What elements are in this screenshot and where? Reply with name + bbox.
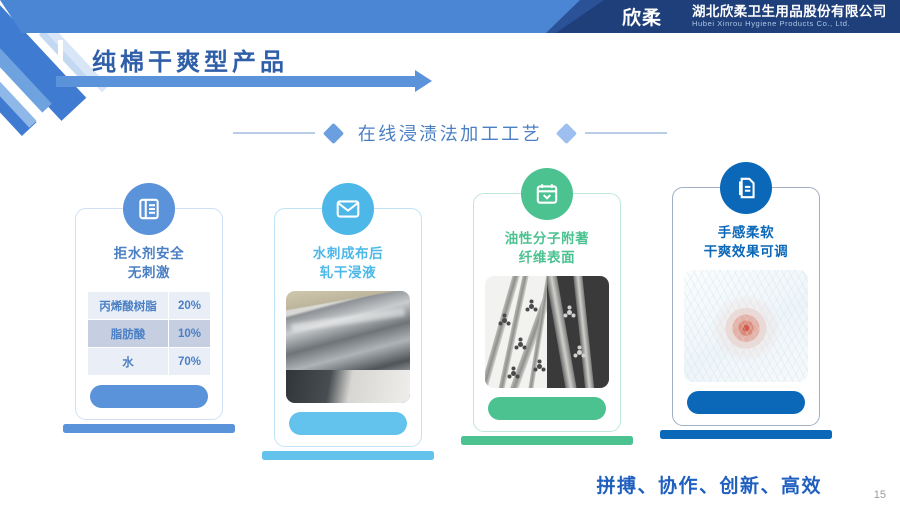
page-title: 纯棉干爽型产品 xyxy=(92,42,288,77)
card-2-base-bar xyxy=(262,451,434,460)
brand-logo-icon: 欣柔 xyxy=(600,3,684,30)
card-2-heading: 水刺成布后 轧干浸液 xyxy=(313,244,384,282)
card-2-heading-line2: 轧干浸液 xyxy=(313,263,384,282)
row-1-name: 丙烯酸树脂 xyxy=(88,292,169,320)
process-card-2[interactable]: 水刺成布后 轧干浸液 xyxy=(262,183,434,460)
card-1-heading: 拒水剂安全 无刺激 xyxy=(114,244,185,282)
row-1-value: 20% xyxy=(169,292,211,320)
card-3-heading-line1: 油性分子附著 xyxy=(505,229,590,248)
company-logo-block: 欣柔 湖北欣柔卫生用品股份有限公司 Hubei Xinrou Hygiene P… xyxy=(600,1,887,32)
diamond-icon-left xyxy=(323,122,344,143)
roller-machine-photo xyxy=(286,291,410,403)
card-3-heading: 油性分子附著 纤维表面 xyxy=(505,229,590,267)
card-4-pill-button[interactable] xyxy=(687,391,805,414)
process-card-4[interactable]: 手感柔软 干爽效果可调 xyxy=(660,162,832,439)
card-1-pill-button[interactable] xyxy=(90,385,208,408)
card-1-base-bar xyxy=(63,424,235,433)
card-2-pill-button[interactable] xyxy=(289,412,407,435)
table-row: 水 70% xyxy=(88,348,211,376)
title-arrow-graphic xyxy=(56,76,416,87)
card-4-heading-line1: 手感柔软 xyxy=(704,223,789,242)
book-icon xyxy=(123,183,175,235)
subtitle-line-left xyxy=(233,132,315,134)
card-3-heading-line2: 纤维表面 xyxy=(505,248,590,267)
row-3-value: 70% xyxy=(169,348,211,376)
table-row: 脂肪酸 10% xyxy=(88,320,211,348)
card-2-body: 水刺成布后 轧干浸液 xyxy=(274,208,422,447)
document-icon xyxy=(720,162,772,214)
card-1-heading-line2: 无刺激 xyxy=(114,263,185,282)
company-name-en: Hubei Xinrou Hygiene Products Co., Ltd. xyxy=(692,20,887,28)
company-names: 湖北欣柔卫生用品股份有限公司 Hubei Xinrou Hygiene Prod… xyxy=(692,5,887,29)
card-2-heading-line1: 水刺成布后 xyxy=(313,244,384,263)
row-3-name: 水 xyxy=(88,348,169,376)
card-1-body: 拒水剂安全 无刺激 丙烯酸树脂 20% 脂肪酸 10% 水 70% xyxy=(75,208,223,420)
subtitle-row: 在线浸渍法加工工艺 xyxy=(0,120,900,146)
card-4-heading-line2: 干爽效果可调 xyxy=(704,242,789,261)
fiber-microscopy-photo xyxy=(485,276,609,388)
table-row: 丙烯酸树脂 20% xyxy=(88,292,211,320)
calendar-icon xyxy=(521,168,573,220)
card-4-base-bar xyxy=(660,430,832,439)
card-1-heading-line1: 拒水剂安全 xyxy=(114,244,185,263)
title-accent-bar xyxy=(58,40,63,66)
card-3-base-bar xyxy=(461,436,633,445)
card-3-body: 油性分子附著 纤维表面 xyxy=(473,193,621,432)
envelope-icon xyxy=(322,183,374,235)
subtitle-line-right xyxy=(585,132,667,134)
diamond-icon-right xyxy=(556,122,577,143)
process-card-1[interactable]: 拒水剂安全 无刺激 丙烯酸树脂 20% 脂肪酸 10% 水 70% xyxy=(63,183,235,433)
card-4-heading: 手感柔软 干爽效果可调 xyxy=(704,223,789,261)
absorbency-pad-photo xyxy=(684,270,808,382)
row-2-value: 10% xyxy=(169,320,211,348)
card-3-pill-button[interactable] xyxy=(488,397,606,420)
process-card-3[interactable]: 油性分子附著 纤维表面 xyxy=(461,168,633,445)
row-2-name: 脂肪酸 xyxy=(88,320,169,348)
subtitle-text: 在线浸渍法加工工艺 xyxy=(352,120,549,146)
page-number: 15 xyxy=(874,489,886,501)
composition-table: 丙烯酸树脂 20% 脂肪酸 10% 水 70% xyxy=(87,291,211,376)
footer-slogan: 拼搏、协作、创新、高效 xyxy=(596,471,822,498)
company-name-cn: 湖北欣柔卫生用品股份有限公司 xyxy=(692,5,887,19)
card-4-body: 手感柔软 干爽效果可调 xyxy=(672,187,820,426)
slide-canvas: 欣柔 湖北欣柔卫生用品股份有限公司 Hubei Xinrou Hygiene P… xyxy=(0,0,900,510)
